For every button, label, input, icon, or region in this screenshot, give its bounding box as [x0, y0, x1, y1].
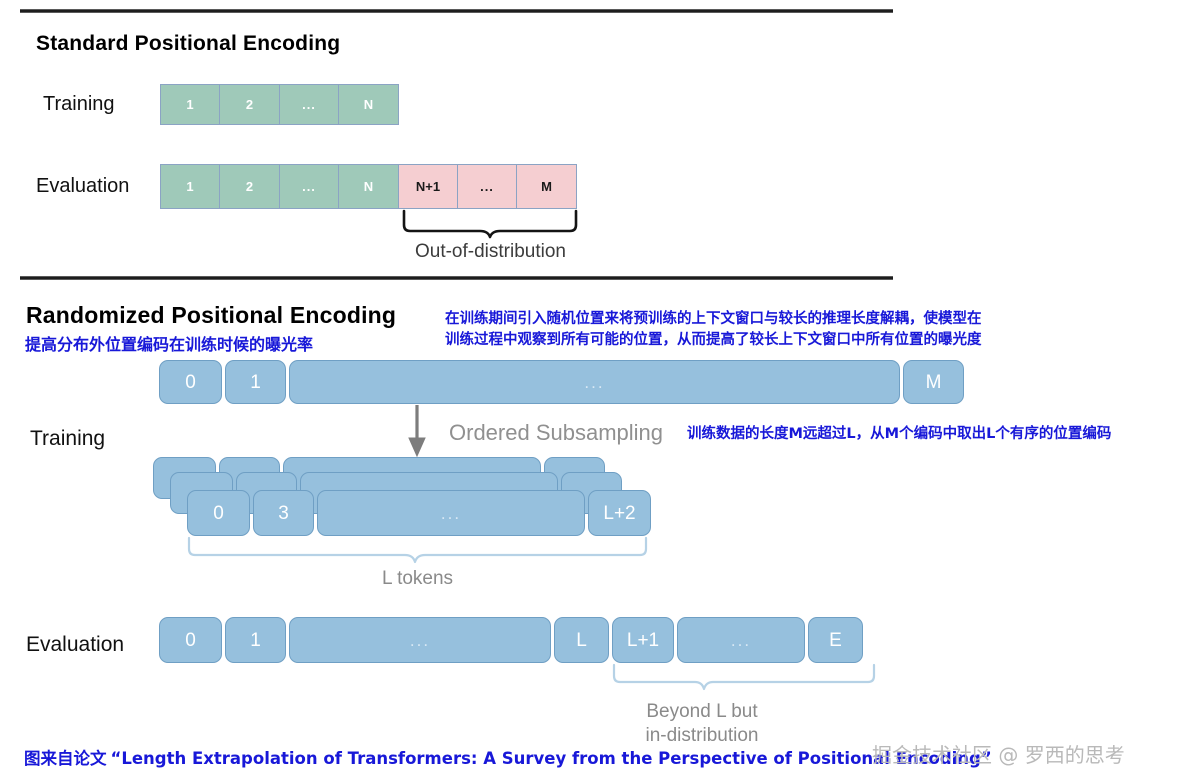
randomized-section-title: Randomized Positional Encoding	[26, 302, 396, 329]
divider-middle	[20, 276, 893, 280]
cell-std-eval-6: M	[516, 164, 577, 209]
l-tokens-brace	[189, 538, 646, 562]
cell-std-eval-2: ...	[279, 164, 339, 209]
source-caption-prefix: 图来自论文	[24, 749, 107, 768]
slide-canvas: Standard Positional Encoding Training 1 …	[0, 0, 1201, 781]
cell-eval-4: L+1	[612, 617, 674, 663]
cell-std-train-0: 1	[160, 84, 220, 125]
cell-pool-0: 0	[159, 360, 222, 404]
out-of-distribution-caption: Out-of-distribution	[408, 240, 573, 264]
cell-pool-3: M	[903, 360, 964, 404]
cell-eval-6: E	[808, 617, 863, 663]
cell-std-eval-0: 1	[160, 164, 220, 209]
annotation-subsampling-chinese: 训练数据的长度M远超过L，从M个编码中取出L个有序的位置编码	[687, 422, 1111, 443]
ordered-subsampling-label: Ordered Subsampling	[449, 420, 663, 446]
cell-pool-1: 1	[225, 360, 286, 404]
standard-section-title: Standard Positional Encoding	[36, 32, 340, 56]
watermark: 掘金技术社区 @ 罗西的思考	[872, 739, 1125, 768]
cell-std-eval-5: ...	[457, 164, 517, 209]
cell-sampled-3: L+2	[588, 490, 651, 536]
ordered-subsampling-arrow	[409, 405, 425, 456]
cell-pool-2: ...	[289, 360, 900, 404]
cell-eval-1: 1	[225, 617, 286, 663]
randomized-training-label: Training	[30, 427, 105, 451]
cell-std-train-1: 2	[219, 84, 280, 125]
cell-eval-5: ...	[677, 617, 805, 663]
source-caption-paper: “Length Extrapolation of Transformers: A…	[111, 749, 992, 768]
cell-std-eval-1: 2	[219, 164, 280, 209]
standard-evaluation-row: 1 2 ... N N+1 ... M	[160, 164, 577, 209]
beyond-l-caption: Beyond L but in-distribution	[592, 700, 812, 748]
standard-training-row: 1 2 ... N	[160, 84, 399, 125]
cell-std-train-3: N	[338, 84, 399, 125]
annotation-right-line2: 训练过程中观察到所有可能的位置，从而提高了较长上下文窗口中所有位置的曝光度	[445, 330, 982, 351]
out-of-distribution-brace	[404, 211, 576, 237]
randomized-pool-row: 0 1 ... M	[159, 360, 964, 404]
cell-std-eval-4: N+1	[398, 164, 458, 209]
cell-eval-2: ...	[289, 617, 551, 663]
beyond-l-brace	[614, 665, 874, 689]
randomized-evaluation-row: 0 1 ... L L+1 ... E	[159, 617, 863, 663]
source-caption: 图来自论文“Length Extrapolation of Transforme…	[24, 745, 992, 769]
randomized-evaluation-label: Evaluation	[26, 633, 124, 657]
randomized-sampled-row: 0 3 ... L+2	[187, 490, 651, 536]
cell-eval-3: L	[554, 617, 609, 663]
cell-std-train-2: ...	[279, 84, 339, 125]
l-tokens-caption: L tokens	[330, 567, 505, 591]
standard-evaluation-label: Evaluation	[36, 175, 129, 198]
cell-std-eval-3: N	[338, 164, 399, 209]
cell-eval-0: 0	[159, 617, 222, 663]
annotation-left-chinese: 提高分布外位置编码在训练时候的曝光率	[25, 331, 313, 355]
cell-sampled-0: 0	[187, 490, 250, 536]
beyond-l-caption-line1: Beyond L but	[592, 700, 812, 724]
standard-training-label: Training	[43, 93, 115, 116]
annotation-right-line1: 在训练期间引入随机位置来将预训练的上下文窗口与较长的推理长度解耦，使模型在	[445, 309, 982, 330]
cell-sampled-2: ...	[317, 490, 585, 536]
cell-sampled-1: 3	[253, 490, 314, 536]
annotation-right-chinese: 在训练期间引入随机位置来将预训练的上下文窗口与较长的推理长度解耦，使模型在 训练…	[445, 309, 982, 350]
beyond-l-caption-line2: in-distribution	[592, 724, 812, 748]
divider-top	[20, 9, 893, 13]
